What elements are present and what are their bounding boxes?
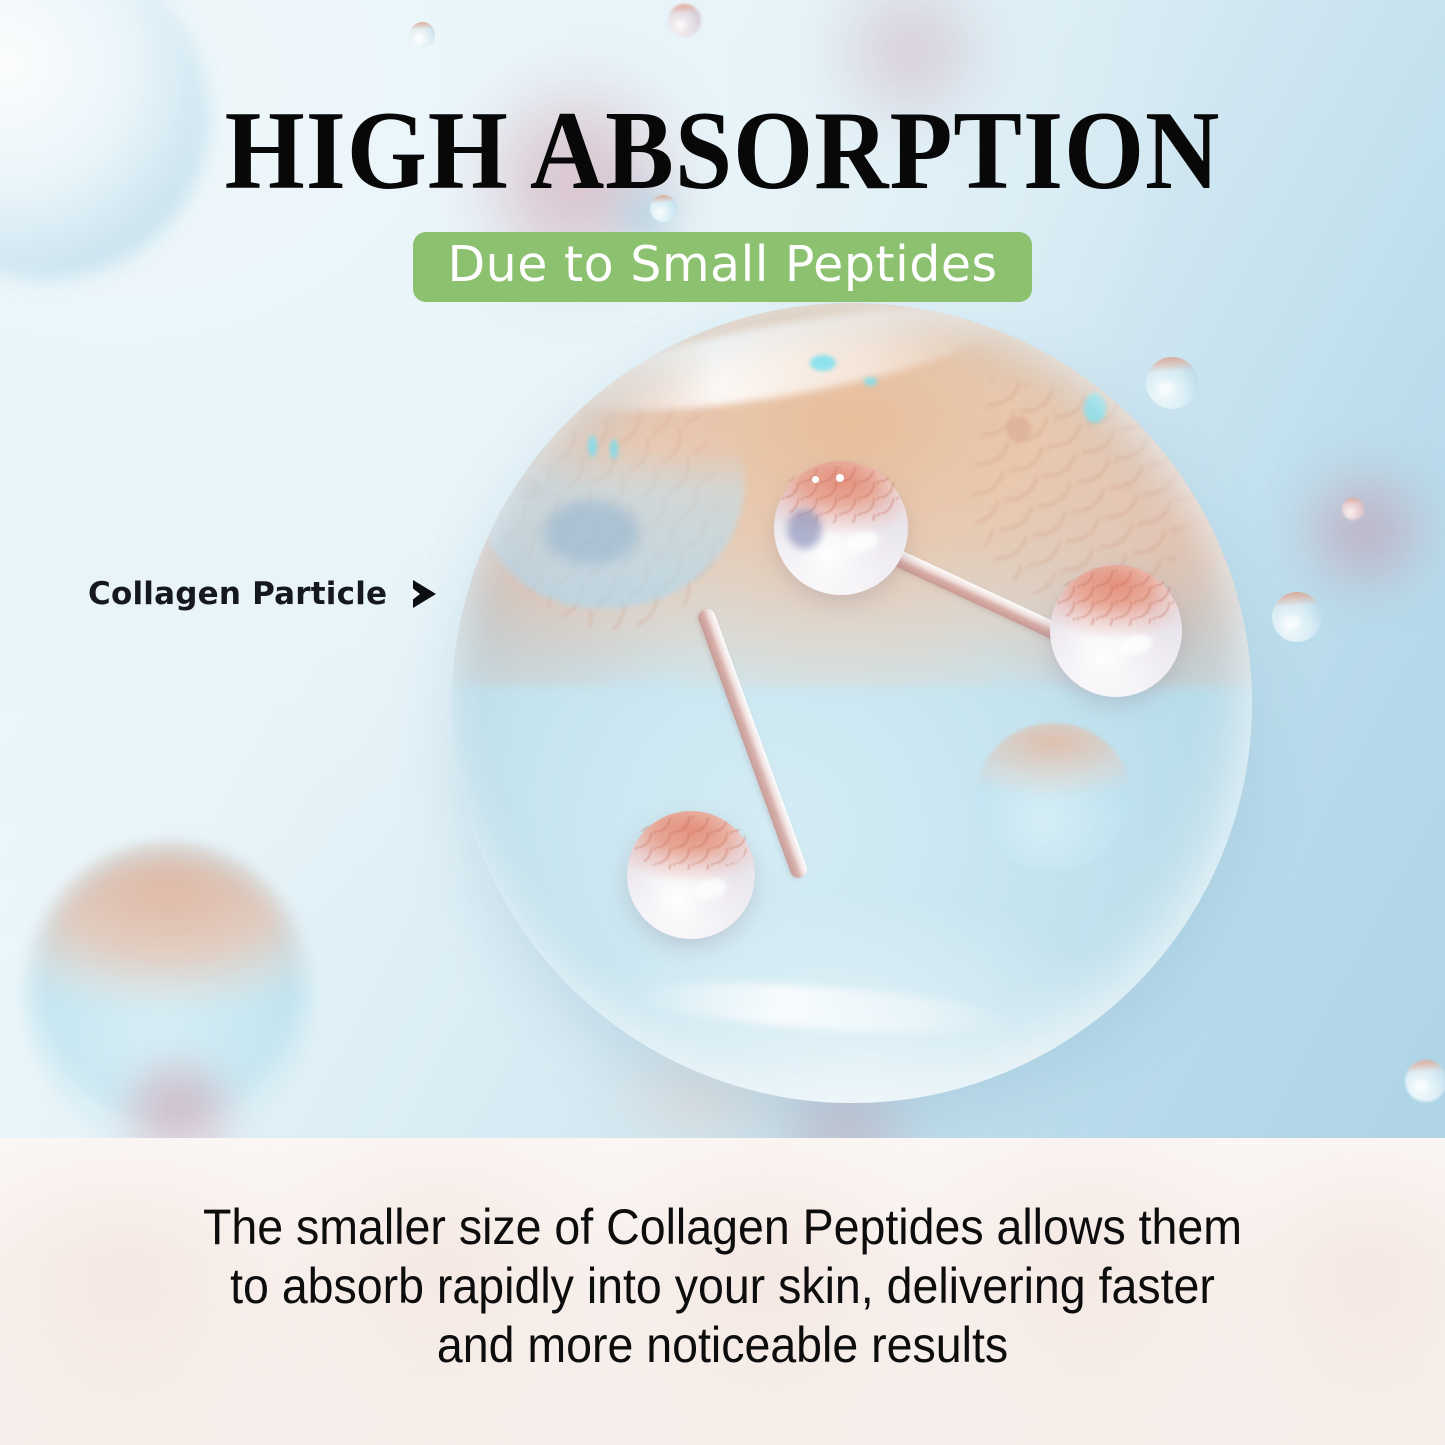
collagen-particle-callout: Collagen Particle <box>88 576 436 612</box>
floating-bubble-icon <box>1405 1060 1445 1102</box>
page-title: HIGH ABSORPTION <box>58 95 1387 207</box>
molecule-atom <box>627 811 755 939</box>
atom-texture <box>635 816 748 870</box>
atom-shadow-spot <box>787 509 822 549</box>
sphere-body <box>452 303 1252 1103</box>
atom-glint <box>842 529 880 556</box>
collagen-particle-label: Collagen Particle <box>88 576 387 612</box>
floating-bubble-icon <box>1272 592 1322 642</box>
atom-glint <box>692 876 729 901</box>
subtitle-badge: Due to Small Peptides <box>413 232 1031 302</box>
promo-canvas: HIGH ABSORPTION Due to Small Peptides Co… <box>0 0 1445 1445</box>
collagen-particle-sphere <box>452 303 1252 1103</box>
right-triangle-arrow-icon <box>413 580 436 608</box>
atom-glint <box>1117 632 1155 658</box>
atom-specular-highlight <box>812 476 819 483</box>
atom-texture <box>1058 570 1174 625</box>
floating-bubble-icon <box>1342 498 1364 520</box>
molecule-atom <box>1050 565 1182 697</box>
floating-bubble-icon <box>410 22 435 47</box>
background-blur-pink-3 <box>1290 455 1440 605</box>
collagen-molecule <box>452 303 1252 1103</box>
molecule-atom <box>774 461 908 595</box>
floating-bubble-icon <box>668 4 701 37</box>
caption-text: The smaller size of Collagen Peptides al… <box>51 1198 1395 1375</box>
subtitle-row: Due to Small Peptides <box>0 232 1445 302</box>
